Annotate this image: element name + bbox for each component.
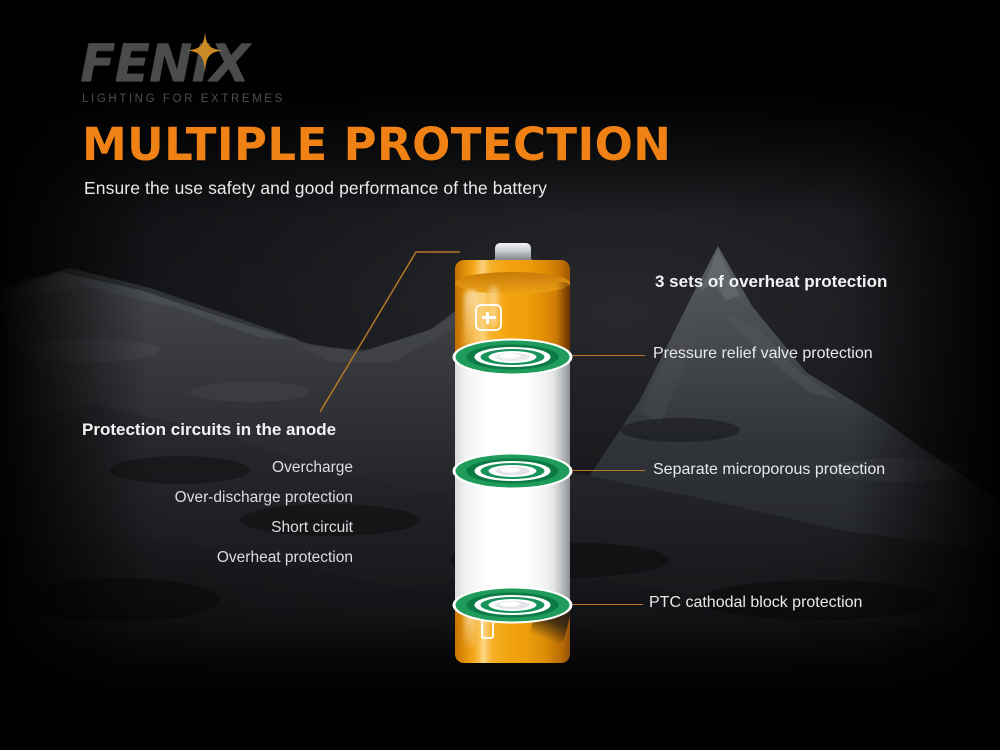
pressure-relief-valve-ring — [452, 337, 573, 377]
leader-line-pressure-relief — [569, 355, 645, 356]
callout-right-heading: 3 sets of overheat protection — [655, 272, 887, 292]
list-item: Over-discharge protection — [175, 489, 353, 507]
callout-left-list: Overcharge Over-discharge protection Sho… — [175, 459, 353, 579]
battery-illustration — [455, 243, 570, 663]
slide-canvas: FENIX LIGHTING FOR EXTREMES MULTIPLE PRO… — [0, 0, 1000, 750]
list-item: Short circuit — [175, 519, 353, 537]
leader-line-ptc — [569, 604, 643, 605]
leader-line-microporous — [569, 470, 645, 471]
list-item: Overheat protection — [175, 549, 353, 567]
callout-separate-microporous: Separate microporous protection — [653, 461, 885, 479]
leader-line-anode — [320, 252, 460, 412]
separate-microporous-ring — [452, 451, 573, 491]
callout-ptc-cathodal-block: PTC cathodal block protection — [649, 594, 862, 612]
ptc-cathodal-block-ring — [452, 585, 573, 625]
list-item: Overcharge — [175, 459, 353, 477]
callout-left-heading: Protection circuits in the anode — [82, 420, 336, 440]
plus-in-square-icon — [475, 304, 502, 331]
callout-pressure-relief-valve: Pressure relief valve protection — [653, 345, 873, 363]
